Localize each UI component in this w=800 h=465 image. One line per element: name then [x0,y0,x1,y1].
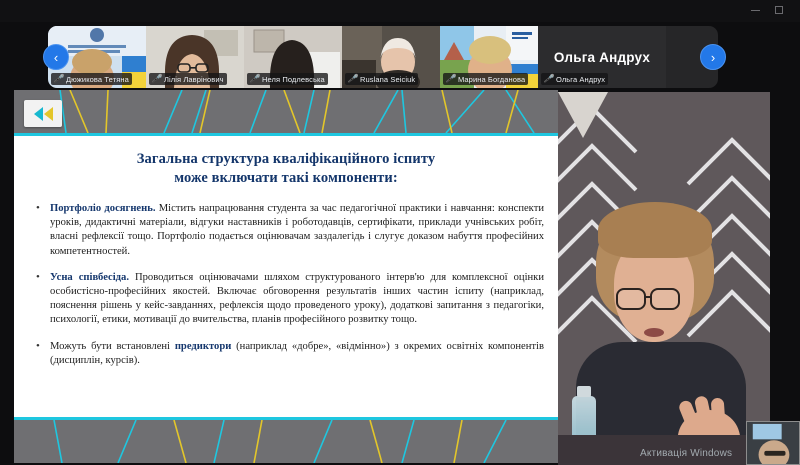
participant-tile-name-card[interactable]: Ольга Андрух 🎤 Ольга Андрух [538,26,666,88]
participant-tile[interactable]: 🎤 Неля Подлевська [244,26,342,88]
maximize-button[interactable] [772,4,786,16]
participant-filmstrip[interactable]: 🎤 Дюжикова Тетяна 🎤 Лілія Лаврінович [48,26,718,88]
filmstrip-prev-button[interactable]: ‹ [43,44,69,70]
chevron-left-icon: ‹ [54,51,58,64]
participant-tile[interactable]: 🎤 Ruslana Seiciuk [342,26,440,88]
speaker-mouth [644,328,664,337]
self-view-video [747,422,799,464]
mic-muted-icon: 🎤 [53,75,65,83]
eyeglasses-right-lens [650,288,680,310]
slide-prev-button[interactable] [24,100,62,127]
bottle-cap [577,386,591,397]
bullet-lead-term: Усна співбесіда. [50,272,129,283]
participant-name: Ruslana Seiciuk [360,75,415,84]
participant-name: Лілія Лаврінович [164,75,224,84]
participant-name-pill: 🎤 Неля Подлевська [247,73,328,85]
slide-bullet-list: Портфоліо досягнень. Містить напрацюванн… [28,202,544,368]
minimize-button[interactable] [748,4,762,16]
participant-display-name: Ольга Андрух [554,50,650,65]
slide-bottom-decor-band [14,417,558,463]
slide-top-decor-band [14,90,558,136]
double-left-arrow-icon-second [44,107,53,121]
participant-name-pill: 🎤 Ruslana Seiciuk [345,73,418,85]
windows-activation-watermark: Активація Windows [640,448,732,459]
participant-name: Марина Богданова [458,75,525,84]
participant-tile[interactable]: 🎤 Лілія Лаврінович [146,26,244,88]
participant-name-pill: 🎤 Лілія Лаврінович [149,73,227,85]
participant-name-pill: 🎤 Дюжикова Тетяна [51,73,132,85]
mic-muted-icon: 🎤 [249,75,261,83]
filmstrip-next-button[interactable]: › [700,44,726,70]
slide-title: Загальна структура кваліфікаційного іспи… [28,150,544,188]
mic-muted-icon: 🎤 [445,75,457,83]
participant-name: Неля Подлевська [262,75,325,84]
mic-muted-icon: 🎤 [543,75,555,83]
zigzag-pattern [14,90,558,133]
participant-name-pill: 🎤 Ольга Андрух [541,73,608,85]
bullet-lead-term: Портфоліо досягнень. [50,203,156,214]
active-speaker-video[interactable] [558,92,770,465]
slide-bullet-item: Можуть бути встановлені предиктори (напр… [28,340,544,368]
participant-name: Ольга Андрух [556,75,605,84]
shared-screen-slide: Загальна структура кваліфікаційного іспи… [14,90,558,463]
zigzag-pattern [14,420,558,463]
mic-muted-icon: 🎤 [151,75,163,83]
chevron-right-icon: › [711,51,715,64]
self-view-thumbnail[interactable] [746,421,800,465]
eyeglasses-bridge [646,296,652,298]
speaker-fringe [598,202,712,258]
slide-bullet-item: Портфоліо досягнень. Містить напрацюванн… [28,202,544,259]
slide-title-line-1: Загальна структура кваліфікаційного іспи… [28,150,544,169]
slide-title-line-2: може включати такі компоненти: [28,169,544,188]
participant-name-pill: 🎤 Марина Богданова [443,73,528,85]
bullet-keyword: предиктори [175,341,231,352]
participant-name: Дюжикова Тетяна [66,75,129,84]
mic-muted-icon: 🎤 [347,75,359,83]
participant-tile[interactable]: 🎤 Марина Богданова [440,26,538,88]
eyeglasses-left-lens [616,288,646,310]
double-left-arrow-icon [34,107,43,121]
slide-bullet-item: Усна співбесіда. Проводиться оцінювачами… [28,271,544,328]
zoom-meeting-window: ‹ › 🎤 Дюжикова Тетяна [0,0,800,465]
bullet-prefix-text: Можуть бути встановлені [50,341,175,352]
window-title-bar [0,0,800,22]
slide-content: Загальна структура кваліфікаційного іспи… [14,136,558,417]
